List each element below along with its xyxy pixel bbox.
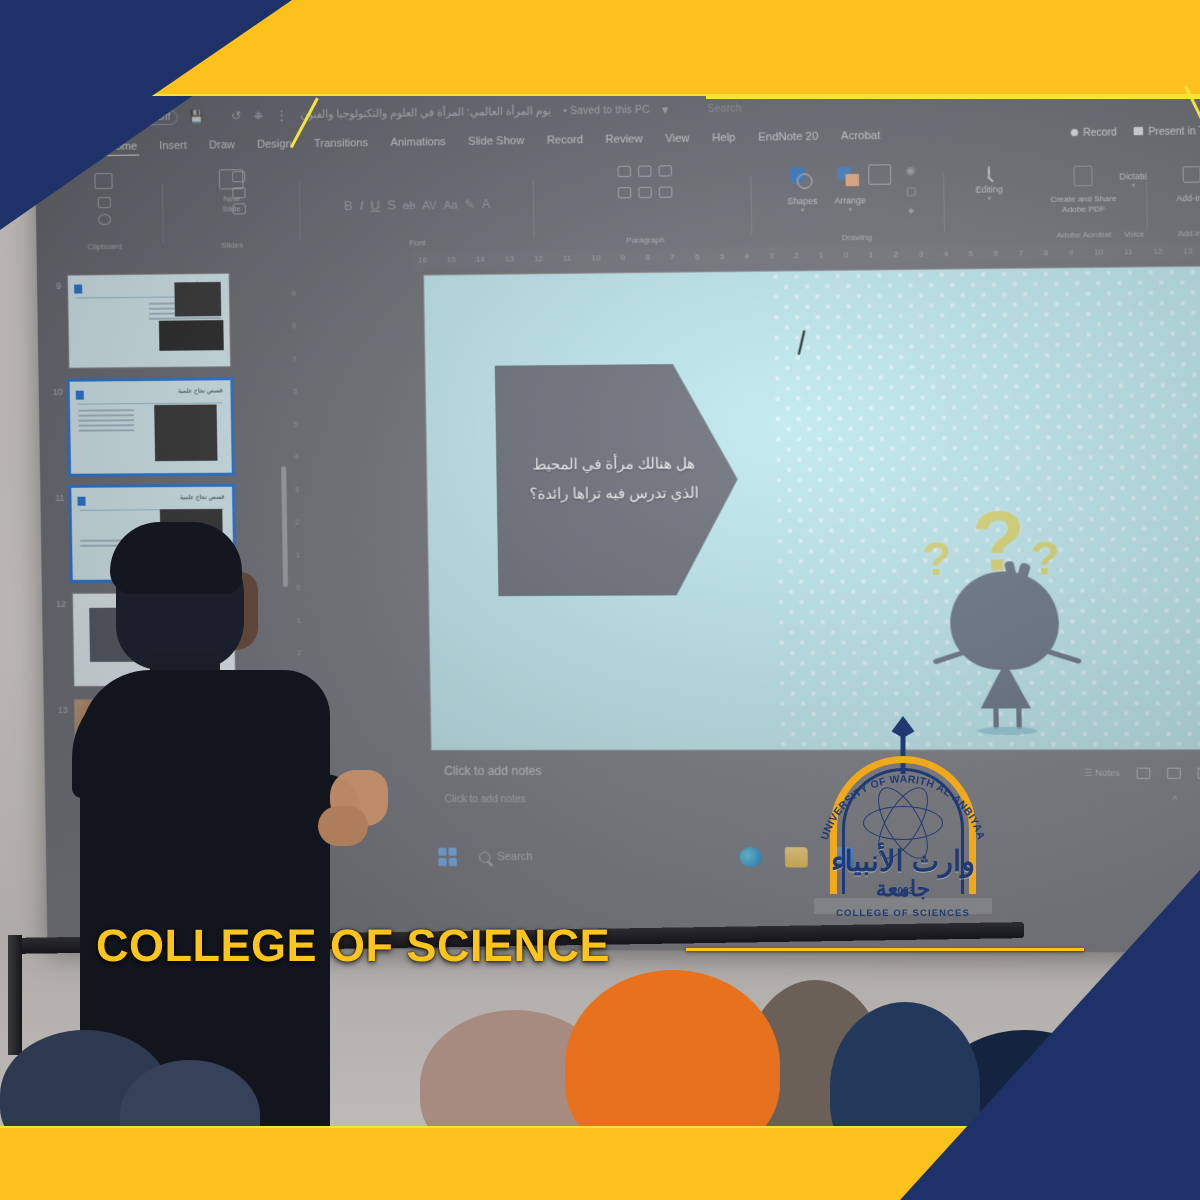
- thumbnail-number: 12: [52, 594, 66, 609]
- university-logo: UNIVERSITY OF WARITH AL-ANBIYAA وارث الأ…: [808, 726, 998, 936]
- document-title: يوم المرأة العالمي: المرأة في العلوم وال…: [300, 105, 551, 121]
- ruler-tick: 1: [819, 250, 824, 259]
- title-underline-rule: [686, 948, 1084, 951]
- tab-draw[interactable]: Draw: [198, 139, 246, 152]
- notes-button[interactable]: ☰ Notes: [1084, 768, 1120, 779]
- ruler-tick: 14: [476, 254, 485, 263]
- logo-year: 2023: [808, 886, 998, 897]
- ribbon: Clipboard New Slide Slides: [35, 145, 1200, 254]
- tab-endnote[interactable]: EndNote 20: [747, 130, 830, 143]
- tab-view[interactable]: View: [654, 132, 701, 145]
- search-icon: [988, 166, 990, 177]
- search-input[interactable]: Search: [707, 103, 741, 115]
- ribbon-group-label-clipboard: Clipboard: [58, 242, 150, 252]
- logo-arabic-main: وارث الأنبياء: [808, 848, 998, 877]
- ruler-tick: 3: [769, 251, 774, 260]
- record-dot-icon: [1070, 128, 1077, 135]
- ruler-tick: 12: [1153, 246, 1163, 255]
- ruler-tick: 16: [418, 255, 427, 264]
- question-callout-shape[interactable]: هل هنالك مرأة في المحيط الذي تدرس فيه تر…: [495, 363, 740, 596]
- logo-college-text: COLLEGE OF SCIENCES: [808, 908, 998, 919]
- saved-status: • Saved to this PC: [563, 104, 650, 116]
- save-icon[interactable]: 💾: [190, 109, 205, 123]
- character-spacing-icon[interactable]: AV: [422, 200, 436, 212]
- ruler-tick: 13: [1183, 246, 1193, 255]
- addins-icon: [1182, 166, 1200, 183]
- callout-text: هل هنالك مرأة في المحيط الذي تدرس فيه تر…: [523, 450, 712, 510]
- lecture-room-photo: AutoSave Off 💾 ↺ ⎈ ⋮ يوم المرأة العالمي:…: [0, 0, 1200, 1200]
- thumbnail-row[interactable]: 9 قصص نجاح علمية: [47, 273, 278, 368]
- reset-icon[interactable]: [232, 187, 245, 198]
- strikethrough-icon[interactable]: ab: [403, 200, 416, 212]
- tab-slide-show[interactable]: Slide Show: [457, 135, 536, 148]
- tab-record[interactable]: Record: [535, 134, 594, 147]
- present-icon: [1134, 126, 1144, 134]
- copy-icon[interactable]: [97, 197, 110, 208]
- ribbon-divider: [533, 179, 535, 238]
- vruler-tick: 5: [293, 420, 297, 429]
- record-label: Record: [1083, 127, 1117, 139]
- chevron-down-icon[interactable]: ▾: [662, 102, 669, 116]
- present-label: Present in Teams: [1148, 125, 1200, 137]
- page-title: COLLEGE OF SCIENCE: [96, 920, 610, 972]
- ruler-tick: 11: [563, 253, 572, 262]
- ribbon-divider: [299, 182, 301, 240]
- vruler-tick: 6: [293, 387, 297, 396]
- tab-transitions[interactable]: Transitions: [303, 137, 380, 150]
- question-mark-icon: ?: [1030, 534, 1060, 581]
- align-left-icon[interactable]: [617, 187, 631, 198]
- thumbnail-number: 11: [50, 488, 64, 503]
- vruler-tick: 9: [291, 289, 295, 298]
- taskbar-search[interactable]: Search: [479, 851, 533, 863]
- thumbnail-row[interactable]: 10 قصص نجاح علمية: [49, 380, 280, 474]
- ruler-tick: 9: [621, 253, 626, 262]
- bold-icon[interactable]: B: [344, 198, 353, 213]
- ribbon-button-editing[interactable]: Editing ▾: [949, 152, 1030, 239]
- slide-sorter-icon[interactable]: [1167, 768, 1181, 779]
- ruler-tick: 2: [794, 250, 799, 259]
- ribbon-group-paragraph: Paragraph: [547, 156, 743, 244]
- thumb-accent: [76, 391, 84, 400]
- present-in-teams-button[interactable]: Present in Teams: [1134, 125, 1200, 138]
- ribbon-divider: [750, 176, 752, 235]
- thumb-image: [154, 404, 217, 461]
- ruler-tick: 4: [943, 249, 948, 258]
- numbering-icon[interactable]: [637, 166, 651, 177]
- ruler-tick: 11: [1124, 247, 1133, 256]
- layout-icon[interactable]: [232, 171, 245, 182]
- adobe-pdf-icon: [1073, 166, 1092, 187]
- ruler-tick: 13: [505, 254, 514, 263]
- thumb-title: قصص نجاح علمية: [178, 387, 222, 394]
- taskbar-search-label: Search: [497, 851, 533, 863]
- align-right-icon[interactable]: [658, 187, 672, 198]
- ruler-tick: 1: [869, 250, 874, 259]
- ruler-tick: 10: [1094, 247, 1103, 256]
- format-painter-icon[interactable]: [98, 214, 111, 225]
- section-icon[interactable]: [233, 203, 246, 214]
- ribbon-divider: [162, 184, 164, 242]
- thumb-image: [174, 282, 221, 317]
- shadow-icon[interactable]: S: [387, 197, 396, 212]
- thumbnail-number: 10: [49, 382, 63, 397]
- vruler-tick: 4: [294, 452, 298, 461]
- vruler-tick: 7: [292, 354, 296, 363]
- ruler-tick: 7: [670, 252, 675, 261]
- slides-layout-stack: [232, 171, 246, 214]
- thumb-image: [159, 320, 224, 351]
- normal-view-icon[interactable]: [1137, 768, 1151, 779]
- tab-acrobat[interactable]: Acrobat: [830, 130, 892, 143]
- dictate-label: Dictate: [1100, 165, 1167, 182]
- ribbon-group-label-voice: Voice: [1101, 229, 1168, 239]
- thumb-title: قصص نجاح علمية: [180, 494, 224, 501]
- vruler-tick: 8: [292, 322, 296, 331]
- thinking-person-silhouette-icon: ? ? ?: [921, 508, 1091, 713]
- adobe-pdf-label-2: Adobe PDF: [1062, 204, 1105, 214]
- ruler-tick: 15: [447, 255, 456, 264]
- edge-icon[interactable]: [740, 847, 763, 867]
- zoom-out-icon[interactable]: ^: [1173, 794, 1178, 804]
- ruler-tick: 10: [591, 253, 600, 262]
- decrease-indent-icon[interactable]: [658, 165, 672, 176]
- ribbon-group-label-slides: Slides: [177, 240, 288, 250]
- record-button[interactable]: Record: [1070, 127, 1117, 139]
- ribbon-group-label-addins: Add-ins: [1159, 228, 1200, 238]
- ruler-tick: 6: [695, 252, 700, 261]
- slide-thumbnail-9[interactable]: قصص نجاح علمية: [68, 274, 230, 368]
- ribbon-group-label-font: Font: [316, 237, 519, 249]
- question-mark-icon: ?: [922, 535, 952, 582]
- slide-canvas[interactable]: هل هنالك مرأة في المحيط الذي تدرس فيه تر…: [424, 267, 1200, 750]
- svg-text:UNIVERSITY OF WARITH AL-ANBIYA: UNIVERSITY OF WARITH AL-ANBIYAA: [819, 773, 987, 841]
- ruler-tick: 8: [1044, 248, 1049, 257]
- ruler-tick: 5: [719, 251, 724, 260]
- font-color-icon[interactable]: A: [482, 197, 490, 211]
- thumbnail-number: 13: [54, 700, 68, 715]
- ruler-tick: 4: [744, 251, 749, 260]
- italic-icon[interactable]: I: [360, 198, 364, 213]
- ruler-tick: 2: [893, 249, 898, 258]
- align-center-icon[interactable]: [638, 187, 652, 198]
- undo-icon[interactable]: ↺: [231, 109, 242, 123]
- bullets-icon[interactable]: [617, 166, 631, 177]
- thumb-accent: [77, 497, 85, 506]
- ribbon-group-drawing: Drawing: [762, 153, 950, 241]
- customize-quick-access-icon[interactable]: ⎈: [253, 108, 263, 123]
- ribbon-group-font: B I U S ab AV Aa ✎ A Font: [315, 159, 520, 246]
- change-case-icon[interactable]: Aa: [444, 199, 458, 211]
- ruler-tick: 7: [1019, 248, 1024, 257]
- powerpoint-statusbar: ☰ Notes: [1084, 768, 1200, 779]
- ribbon-group-label-paragraph: Paragraph: [548, 234, 743, 245]
- slide-thumbnail-10[interactable]: قصص نجاح علمية: [70, 380, 232, 474]
- search-icon: [479, 851, 490, 862]
- ruler-tick: 6: [994, 248, 999, 257]
- tab-review[interactable]: Review: [594, 133, 654, 146]
- notes-label: Notes: [1095, 768, 1120, 778]
- notes-placeholder[interactable]: Click to add notes: [444, 764, 542, 778]
- tab-insert[interactable]: Insert: [148, 140, 198, 153]
- ruler-tick: 3: [918, 249, 923, 258]
- ruler-tick: 5: [968, 248, 973, 257]
- thumb-text-lines: [78, 409, 135, 434]
- ruler-tick: 9: [1069, 247, 1074, 256]
- thumb-accent: [74, 284, 82, 293]
- ribbon-tabs-right: Record Present in Teams: [1070, 119, 1200, 146]
- notes-placeholder-secondary[interactable]: Click to add notes: [445, 794, 526, 805]
- addins-label: Add-ins: [1159, 184, 1200, 203]
- ruler-tick: 12: [534, 253, 543, 262]
- start-button[interactable]: [438, 848, 457, 866]
- paste-icon[interactable]: [94, 173, 112, 189]
- screenshot-root: AutoSave Off 💾 ↺ ⎈ ⋮ يوم المرأة العالمي:…: [0, 0, 1200, 1200]
- underline-icon[interactable]: U: [370, 197, 380, 212]
- more-icon[interactable]: ⋮: [275, 108, 288, 122]
- top-yellow-band: [152, 0, 1200, 96]
- top-yellow-rule: [706, 96, 1200, 99]
- vruler-tick: 3: [294, 485, 298, 494]
- powerpoint-zoom-bar: ^ ☼ □: [1173, 794, 1200, 804]
- tab-help[interactable]: Help: [701, 132, 747, 145]
- tab-animations[interactable]: Animations: [379, 136, 457, 149]
- ruler-tick: 0: [844, 250, 849, 259]
- file-explorer-icon[interactable]: [785, 847, 808, 867]
- ribbon-group-label-drawing: Drawing: [764, 232, 951, 243]
- ribbon-button-addins[interactable]: Add-ins Add-ins: [1158, 149, 1200, 236]
- text-highlight-icon[interactable]: ✎: [465, 197, 475, 211]
- thumbnail-number: 9: [47, 276, 61, 291]
- ruler-tick: 8: [645, 252, 650, 261]
